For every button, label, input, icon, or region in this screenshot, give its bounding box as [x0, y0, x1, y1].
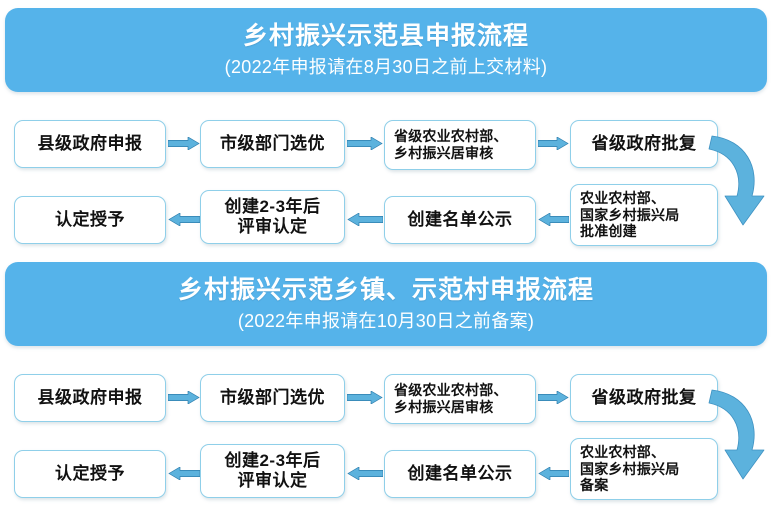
section-2-banner: 乡村振兴示范乡镇、示范村申报流程 (2022年申报请在10月30日之前备案) [5, 262, 767, 346]
s2-node-evaluation-after-years-line1: 创建2-3年后 [224, 451, 320, 471]
s1-node-ministry-approval[interactable]: 农业农村部、 国家乡村振兴局 批准创建 [570, 184, 718, 246]
arrow-right-icon [538, 137, 569, 150]
s1-node-city-selection[interactable]: 市级部门选优 [200, 120, 345, 168]
s2-node-provincial-review-line1: 省级农业农村部、 [394, 382, 508, 399]
s2-node-city-selection[interactable]: 市级部门选优 [200, 374, 345, 422]
section-1-banner-subtitle: (2022年申报请在8月30日之前上交材料) [225, 56, 548, 79]
s2-node-evaluation-after-years-line2: 评审认定 [224, 471, 320, 491]
s2-node-public-announcement[interactable]: 创建名单公示 [384, 450, 536, 498]
s1-node-evaluation-after-years-line2: 评审认定 [224, 217, 320, 237]
s1-node-public-announcement[interactable]: 创建名单公示 [384, 196, 536, 244]
s2-node-county-application-label: 县级政府申报 [38, 388, 143, 408]
s1-node-evaluation-after-years[interactable]: 创建2-3年后 评审认定 [200, 190, 345, 244]
s2-node-public-announcement-label: 创建名单公示 [408, 464, 513, 484]
section-1-banner: 乡村振兴示范县申报流程 (2022年申报请在8月30日之前上交材料) [5, 8, 767, 92]
s1-node-certification-award-label: 认定授予 [55, 210, 125, 230]
arrow-left-icon [347, 213, 383, 226]
s2-node-provincial-review[interactable]: 省级农业农村部、 乡村振兴居审核 [384, 374, 536, 424]
s2-node-ministry-filing[interactable]: 农业农村部、 国家乡村振兴局 备案 [570, 438, 718, 500]
section-1-flowchart: 县级政府申报 市级部门选优 省级农业农村部、 乡村振兴居审核 省级政府批复 [0, 108, 772, 254]
arrow-right-icon [538, 391, 569, 404]
arrow-left-icon [168, 213, 200, 226]
s2-node-certification-award[interactable]: 认定授予 [14, 450, 166, 498]
section-2-banner-title: 乡村振兴示范乡镇、示范村申报流程 [178, 275, 594, 306]
arrow-right-icon [347, 391, 383, 404]
s1-node-evaluation-after-years-line1: 创建2-3年后 [224, 197, 320, 217]
s1-node-provincial-review[interactable]: 省级农业农村部、 乡村振兴居审核 [384, 120, 536, 170]
s1-node-certification-award[interactable]: 认定授予 [14, 196, 166, 244]
s1-node-provincial-approval-label: 省级政府批复 [592, 134, 697, 154]
s1-node-ministry-approval-line3: 批准创建 [580, 223, 679, 240]
s2-node-ministry-filing-line1: 农业农村部、 [580, 444, 679, 461]
arrow-left-icon [538, 213, 569, 226]
s2-node-evaluation-after-years[interactable]: 创建2-3年后 评审认定 [200, 444, 345, 498]
s1-node-ministry-approval-line2: 国家乡村振兴局 [580, 207, 679, 224]
s2-node-provincial-approval[interactable]: 省级政府批复 [570, 374, 718, 422]
s1-node-public-announcement-label: 创建名单公示 [408, 210, 513, 230]
section-1-banner-title: 乡村振兴示范县申报流程 [243, 21, 529, 52]
s2-node-ministry-filing-line3: 备案 [580, 477, 679, 494]
arrow-right-icon [168, 391, 200, 404]
arrow-left-icon [168, 467, 200, 480]
arrow-right-icon [168, 137, 200, 150]
s2-node-certification-award-label: 认定授予 [55, 464, 125, 484]
s2-node-ministry-filing-line2: 国家乡村振兴局 [580, 461, 679, 478]
s2-node-provincial-review-line2: 乡村振兴居审核 [394, 399, 508, 416]
s1-node-provincial-review-line1: 省级农业农村部、 [394, 128, 508, 145]
s2-node-provincial-approval-label: 省级政府批复 [592, 388, 697, 408]
s1-node-county-application-label: 县级政府申报 [38, 134, 143, 154]
section-2-banner-subtitle: (2022年申报请在10月30日之前备案) [238, 310, 534, 333]
s1-node-provincial-review-line2: 乡村振兴居审核 [394, 145, 508, 162]
arrow-left-icon [347, 467, 383, 480]
s1-node-provincial-approval[interactable]: 省级政府批复 [570, 120, 718, 168]
section-2-flowchart: 县级政府申报 市级部门选优 省级农业农村部、 乡村振兴居审核 省级政府批复 [0, 362, 772, 512]
arrow-left-icon [538, 467, 569, 480]
s1-node-county-application[interactable]: 县级政府申报 [14, 120, 166, 168]
s1-node-ministry-approval-line1: 农业农村部、 [580, 190, 679, 207]
s1-node-city-selection-label: 市级部门选优 [220, 134, 325, 154]
arrow-right-icon [347, 137, 383, 150]
s2-node-city-selection-label: 市级部门选优 [220, 388, 325, 408]
s2-node-county-application[interactable]: 县级政府申报 [14, 374, 166, 422]
